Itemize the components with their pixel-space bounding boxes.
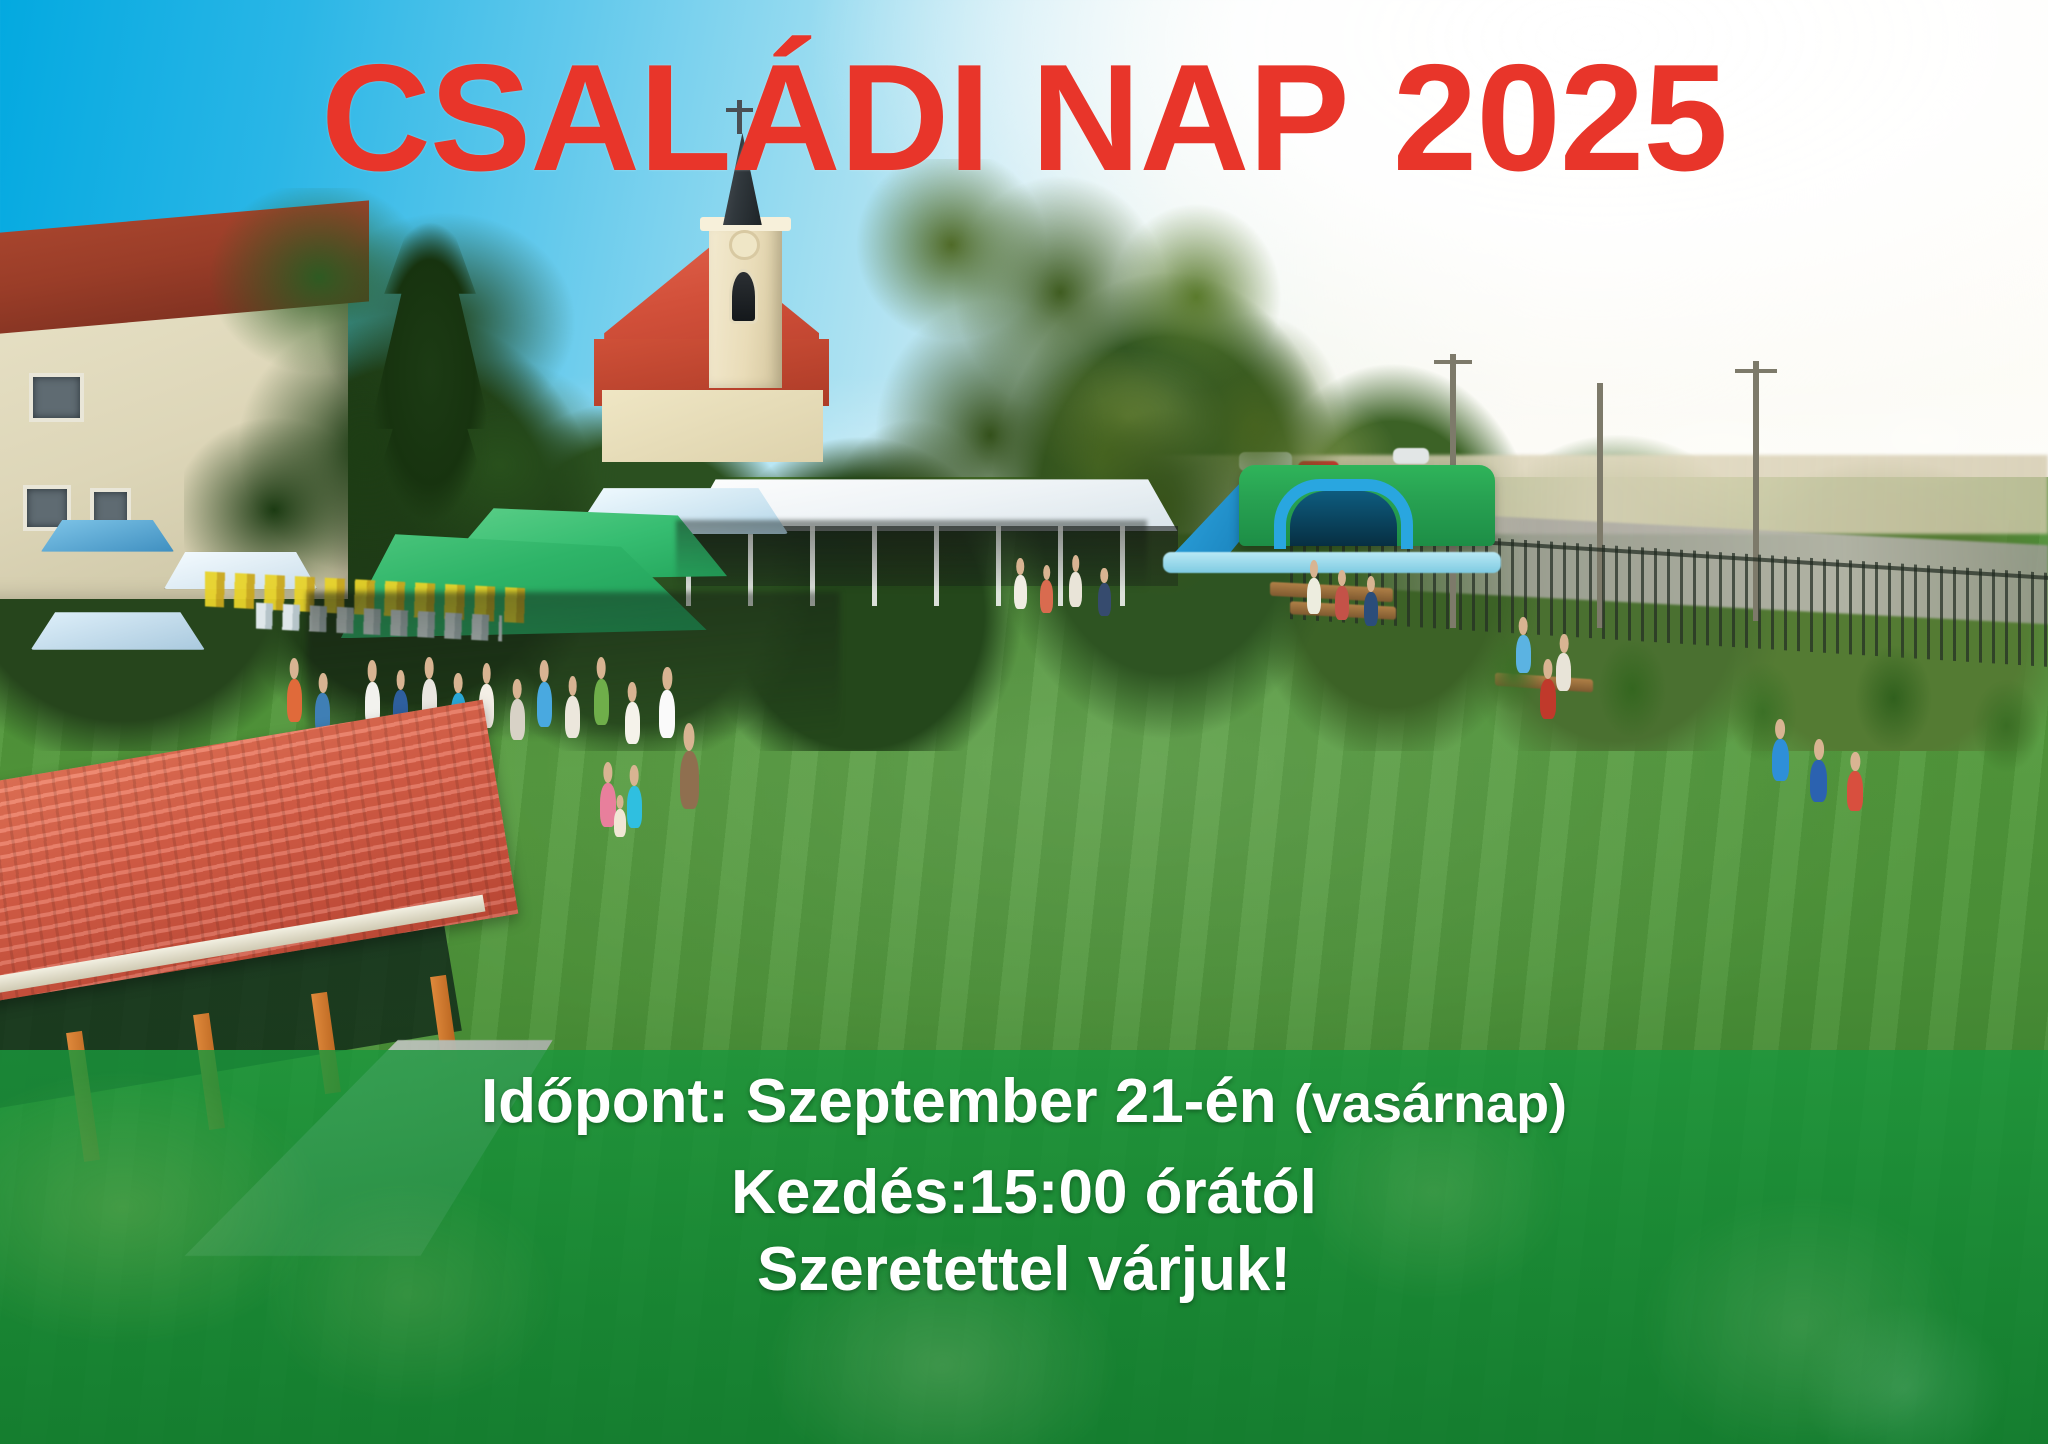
parked-car [1393,448,1430,464]
bouncy-castle-entrance [1290,491,1396,546]
event-weekday: (vasárnap) [1294,1074,1567,1134]
blue-gazebo [41,520,174,552]
person [1810,760,1827,802]
poster-title: CSALÁDI NAP2025 [0,42,2048,194]
person [680,751,699,809]
event-details: Időpont: Szeptember 21-én (vasárnap) Kez… [0,1066,2048,1306]
event-welcome: Szeretettel várjuk! [0,1234,2048,1305]
person-child [614,809,626,837]
church-body [602,390,823,462]
person [625,702,640,744]
title-main: CSALÁDI NAP [321,33,1349,203]
person [565,696,580,738]
person [1335,586,1349,620]
event-start-time: Kezdés:15:00 órától [0,1157,2048,1228]
person [1364,592,1378,626]
person [1516,635,1531,673]
person [1098,583,1111,616]
event-date: Időpont: Szeptember 21-én [481,1067,1277,1136]
person [1069,572,1082,607]
building-window [29,373,84,423]
person [1014,575,1027,609]
person [537,682,552,727]
person [1772,739,1789,781]
person-child [627,786,642,828]
church-clock [729,230,760,261]
person [659,690,675,738]
person [1307,578,1321,614]
person [1540,679,1556,719]
person [594,679,609,725]
person [1040,580,1053,613]
person [1847,771,1863,811]
white-gazebo [31,612,205,650]
poster: CSALÁDI NAP2025 Időpont: Szeptember 21-é… [0,0,2048,1444]
title-year: 2025 [1349,33,1727,203]
event-date-line: Időpont: Szeptember 21-én (vasárnap) [0,1066,2048,1137]
person [1556,653,1571,691]
person [287,679,302,722]
person [510,699,525,740]
bouncy-castle-base [1163,552,1501,574]
church-belfry-window [729,269,758,324]
